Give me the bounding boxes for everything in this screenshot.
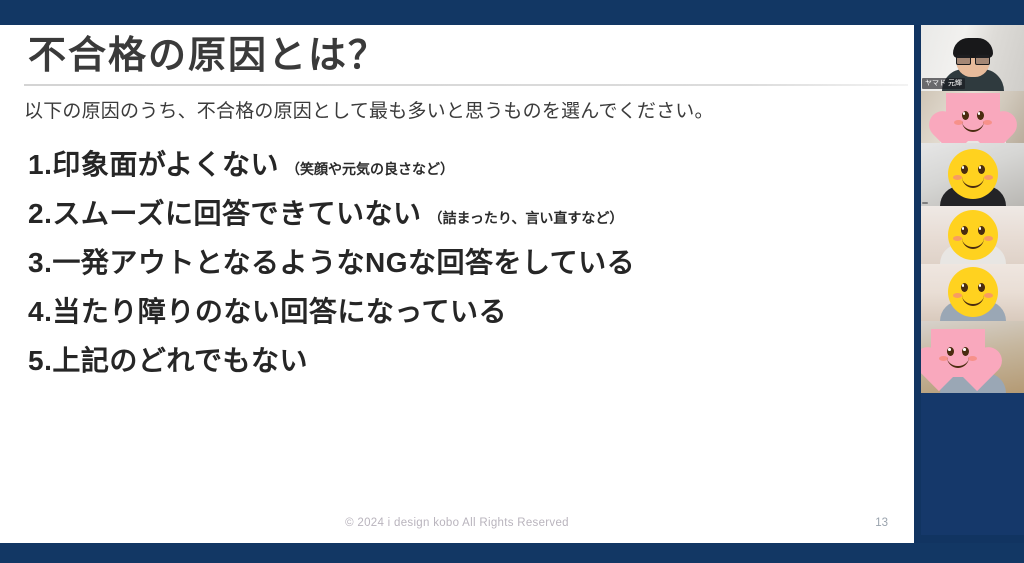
- participant-tile-2[interactable]: [921, 91, 1024, 143]
- option-item-3: 3. 一発アウトとなるようなNGな回答をしている: [28, 247, 894, 279]
- option-number-1: 1.: [28, 149, 52, 181]
- glasses-icon: [956, 54, 990, 63]
- participant-tile-6[interactable]: [921, 321, 1024, 393]
- option-text-3: 一発アウトとなるようなNGな回答をしている: [52, 247, 635, 279]
- slide-page-number: 13: [875, 517, 888, 529]
- option-item-5: 5. 上記のどれでもない: [28, 345, 894, 377]
- participant-name-label-3: [922, 202, 928, 204]
- option-item-4: 4. 当たり障りのない回答になっている: [28, 296, 894, 328]
- option-item-2: 2. スムーズに回答できていない （詰まったり、言い直すなど）: [28, 198, 894, 230]
- option-list: 1. 印象面がよくない （笑顔や元気の良さなど） 2. スムーズに回答できていな…: [20, 149, 894, 378]
- option-number-2: 2.: [28, 198, 52, 230]
- participant-tile-3[interactable]: [921, 143, 1024, 206]
- participant-filmstrip[interactable]: ヤマド 元輝: [921, 25, 1024, 535]
- copyright-text: © 2024 i design kobo All Rights Reserved: [0, 517, 914, 529]
- slide-footer: © 2024 i design kobo All Rights Reserved…: [0, 517, 914, 535]
- meeting-top-bar: [0, 0, 1024, 25]
- heart-sticker-pink-icon: [931, 329, 985, 377]
- shared-slide: 不合格の原因とは？ 以下の原因のうち、不合格の原因として最も多いと思うものを選ん…: [0, 25, 914, 543]
- slide-subtitle: 以下の原因のうち、不合格の原因として最も多いと思うものを選んでください。: [24, 96, 894, 123]
- filmstrip-empty-area: [921, 393, 1024, 535]
- smiley-sticker-yellow-icon: [948, 267, 998, 317]
- meeting-bottom-bar: [0, 543, 1024, 563]
- participant-tile-4[interactable]: [921, 206, 1024, 264]
- participant-name-label-1: ヤマド 元輝: [922, 78, 965, 89]
- option-text-5: 上記のどれでもない: [52, 345, 308, 377]
- option-item-1: 1. 印象面がよくない （笑顔や元気の良さなど）: [28, 149, 894, 181]
- participant-tile-1[interactable]: ヤマド 元輝: [921, 25, 1024, 91]
- smiley-sticker-yellow-icon: [948, 210, 998, 260]
- option-text-1: 印象面がよくない: [52, 149, 279, 181]
- heart-sticker-pink-icon: [946, 93, 1000, 141]
- option-number-3: 3.: [28, 247, 52, 279]
- participant-tile-5[interactable]: [921, 264, 1024, 321]
- slide-content: 不合格の原因とは？ 以下の原因のうち、不合格の原因として最も多いと思うものを選ん…: [0, 25, 914, 543]
- smiley-sticker-yellow-icon: [948, 149, 998, 199]
- option-note-2: （詰まったり、言い直すなど）: [428, 208, 623, 228]
- slide-title: 不合格の原因とは？: [20, 25, 894, 81]
- option-text-2: スムーズに回答できていない: [52, 198, 421, 230]
- video-meeting-stage: 不合格の原因とは？ 以下の原因のうち、不合格の原因として最も多いと思うものを選ん…: [0, 0, 1024, 563]
- option-number-4: 4.: [28, 296, 52, 328]
- option-number-5: 5.: [28, 345, 52, 377]
- title-divider: [24, 84, 908, 86]
- option-note-1: （笑顔や元気の良さなど）: [286, 159, 454, 179]
- option-text-4: 当たり障りのない回答になっている: [52, 296, 507, 328]
